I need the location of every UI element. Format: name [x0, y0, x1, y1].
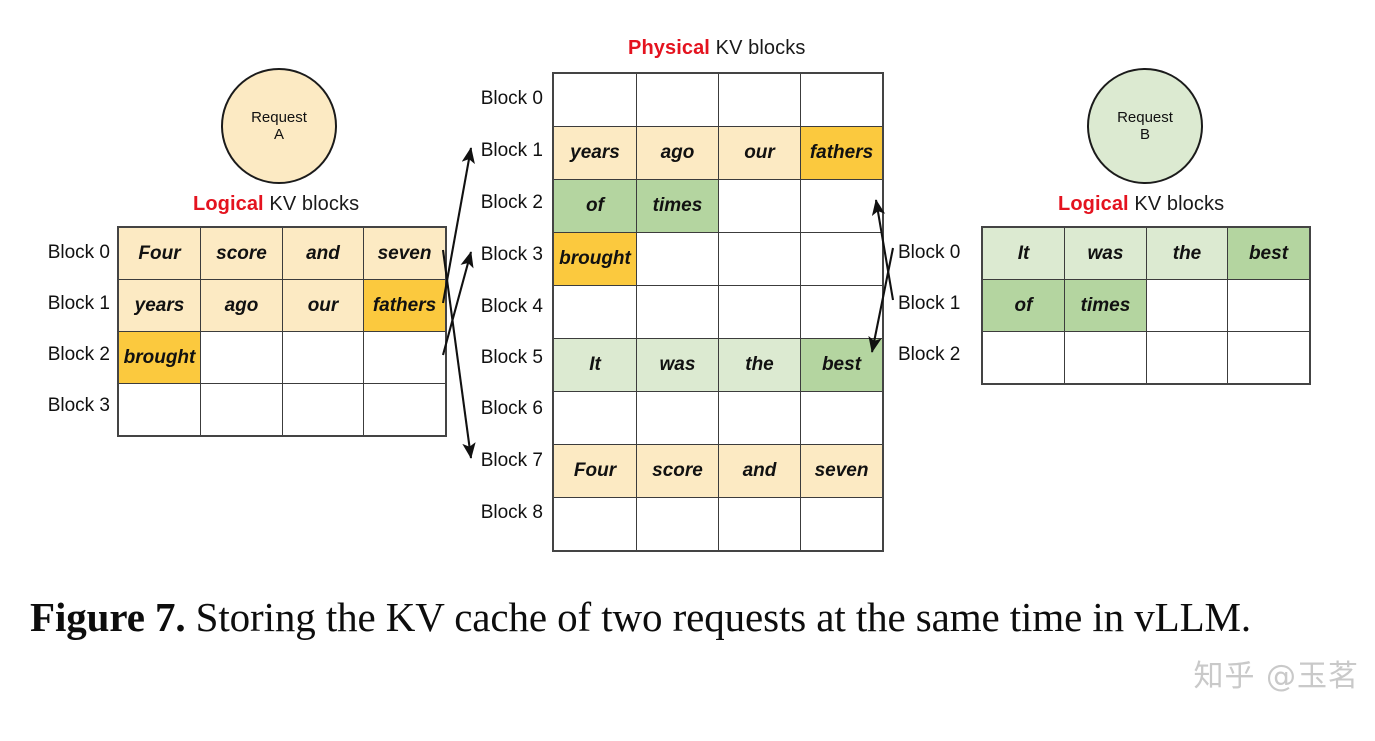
request-a-table-title: Logical KV blocks	[193, 193, 359, 216]
cell-a-0-1: score	[201, 227, 283, 280]
cell-a-2-3	[364, 332, 447, 384]
figure-canvas: Request A Logical KV blocks Block 0 Bloc…	[0, 0, 1375, 741]
cell-p-2-2	[719, 180, 801, 233]
request-a-row-label-0: Block 0	[22, 242, 110, 264]
table-row: brought	[553, 233, 883, 286]
table-row	[118, 384, 446, 437]
cell-a-0-3: seven	[364, 227, 447, 280]
arrow-a-block1-to-p1	[443, 148, 471, 303]
cell-b-2-0	[982, 332, 1065, 385]
request-b-row-label-1: Block 1	[898, 293, 986, 315]
table-row: of times	[553, 180, 883, 233]
cell-p-3-2	[719, 233, 801, 286]
physical-row-label-1: Block 1	[455, 140, 543, 162]
cell-p-2-0: of	[553, 180, 637, 233]
physical-table-body: years ago our fathers of times brought	[553, 73, 883, 551]
cell-p-3-1	[637, 233, 719, 286]
cell-p-5-2: the	[719, 339, 801, 392]
cell-p-5-0: It	[553, 339, 637, 392]
table-row	[553, 392, 883, 445]
figure-caption: Figure 7. Storing the KV cache of two re…	[30, 586, 1330, 650]
request-a-logical-table: Four score and seven years ago our fathe…	[117, 226, 447, 437]
request-b-table-body: It was the best of times	[982, 227, 1310, 384]
cell-a-2-1	[201, 332, 283, 384]
cell-p-5-3: best	[801, 339, 884, 392]
cell-p-7-3: seven	[801, 445, 884, 498]
cell-p-0-0	[553, 73, 637, 127]
table-row: brought	[118, 332, 446, 384]
cell-a-2-0: brought	[118, 332, 201, 384]
request-a-row-label-2: Block 2	[22, 344, 110, 366]
physical-row-label-5: Block 5	[455, 347, 543, 369]
cell-p-6-3	[801, 392, 884, 445]
cell-p-1-3: fathers	[801, 127, 884, 180]
table-row	[553, 498, 883, 552]
cell-a-2-2	[283, 332, 364, 384]
cell-a-1-2: our	[283, 280, 364, 332]
cell-p-4-2	[719, 286, 801, 339]
cell-p-6-1	[637, 392, 719, 445]
table-row	[982, 332, 1310, 385]
cell-p-6-0	[553, 392, 637, 445]
cell-p-1-0: years	[553, 127, 637, 180]
physical-row-label-6: Block 6	[455, 398, 543, 420]
request-b-circle: Request B	[1087, 68, 1203, 184]
table-row: It was the best	[553, 339, 883, 392]
cell-p-8-3	[801, 498, 884, 552]
request-a-circle-line1: Request	[251, 109, 307, 126]
request-a-title-rest: KV blocks	[264, 193, 359, 215]
cell-a-1-1: ago	[201, 280, 283, 332]
cell-a-3-0	[118, 384, 201, 437]
request-b-title-rest: KV blocks	[1129, 193, 1224, 215]
physical-row-label-0: Block 0	[455, 88, 543, 110]
table-row	[553, 286, 883, 339]
cell-b-2-3	[1228, 332, 1311, 385]
cell-b-0-3: best	[1228, 227, 1311, 280]
physical-row-label-2: Block 2	[455, 192, 543, 214]
cell-b-0-2: the	[1147, 227, 1228, 280]
cell-a-3-3	[364, 384, 447, 437]
cell-p-7-1: score	[637, 445, 719, 498]
physical-title-rest: KV blocks	[710, 37, 805, 59]
cell-p-0-1	[637, 73, 719, 127]
cell-p-7-0: Four	[553, 445, 637, 498]
cell-b-0-1: was	[1065, 227, 1147, 280]
table-row: years ago our fathers	[118, 280, 446, 332]
table-row	[553, 73, 883, 127]
physical-row-label-8: Block 8	[455, 502, 543, 524]
cell-b-0-0: It	[982, 227, 1065, 280]
cell-p-1-1: ago	[637, 127, 719, 180]
cell-b-1-1: times	[1065, 280, 1147, 332]
request-b-title-accent: Logical	[1058, 193, 1129, 215]
figure-caption-label: Figure 7.	[30, 594, 186, 640]
cell-b-1-0: of	[982, 280, 1065, 332]
request-b-circle-line1: Request	[1117, 109, 1173, 126]
physical-title-accent: Physical	[628, 37, 710, 59]
table-row: years ago our fathers	[553, 127, 883, 180]
physical-table-title: Physical KV blocks	[628, 37, 805, 60]
cell-p-3-0: brought	[553, 233, 637, 286]
request-a-circle-line2: A	[274, 126, 284, 143]
cell-p-4-3	[801, 286, 884, 339]
cell-p-4-0	[553, 286, 637, 339]
physical-row-label-4: Block 4	[455, 296, 543, 318]
cell-a-1-0: years	[118, 280, 201, 332]
cell-p-4-1	[637, 286, 719, 339]
request-a-row-label-3: Block 3	[22, 395, 110, 417]
physical-row-label-7: Block 7	[455, 450, 543, 472]
cell-b-2-2	[1147, 332, 1228, 385]
table-row: Four score and seven	[118, 227, 446, 280]
cell-p-2-3	[801, 180, 884, 233]
request-b-row-label-0: Block 0	[898, 242, 986, 264]
cell-p-6-2	[719, 392, 801, 445]
cell-a-0-0: Four	[118, 227, 201, 280]
request-b-circle-line2: B	[1140, 126, 1150, 143]
cell-a-0-2: and	[283, 227, 364, 280]
cell-p-3-3	[801, 233, 884, 286]
cell-a-1-3: fathers	[364, 280, 447, 332]
request-a-title-accent: Logical	[193, 193, 264, 215]
request-b-logical-table: It was the best of times	[981, 226, 1311, 385]
cell-b-2-1	[1065, 332, 1147, 385]
cell-a-3-2	[283, 384, 364, 437]
physical-row-label-3: Block 3	[455, 244, 543, 266]
cell-p-8-1	[637, 498, 719, 552]
table-row: It was the best	[982, 227, 1310, 280]
request-a-row-label-1: Block 1	[22, 293, 110, 315]
table-row: of times	[982, 280, 1310, 332]
cell-p-8-0	[553, 498, 637, 552]
cell-b-1-3	[1228, 280, 1311, 332]
request-a-circle: Request A	[221, 68, 337, 184]
zhihu-watermark: 知乎 @玉茗	[1193, 651, 1359, 695]
cell-p-7-2: and	[719, 445, 801, 498]
request-b-table-title: Logical KV blocks	[1058, 193, 1224, 216]
cell-b-1-2	[1147, 280, 1228, 332]
cell-p-1-2: our	[719, 127, 801, 180]
table-row: Four score and seven	[553, 445, 883, 498]
cell-p-0-3	[801, 73, 884, 127]
cell-p-8-2	[719, 498, 801, 552]
cell-p-0-2	[719, 73, 801, 127]
cell-p-2-1: times	[637, 180, 719, 233]
cell-a-3-1	[201, 384, 283, 437]
physical-kv-table: years ago our fathers of times brought	[552, 72, 884, 552]
cell-p-5-1: was	[637, 339, 719, 392]
request-a-table-body: Four score and seven years ago our fathe…	[118, 227, 446, 436]
request-b-row-label-2: Block 2	[898, 344, 986, 366]
figure-caption-text: Storing the KV cache of two requests at …	[186, 594, 1252, 640]
